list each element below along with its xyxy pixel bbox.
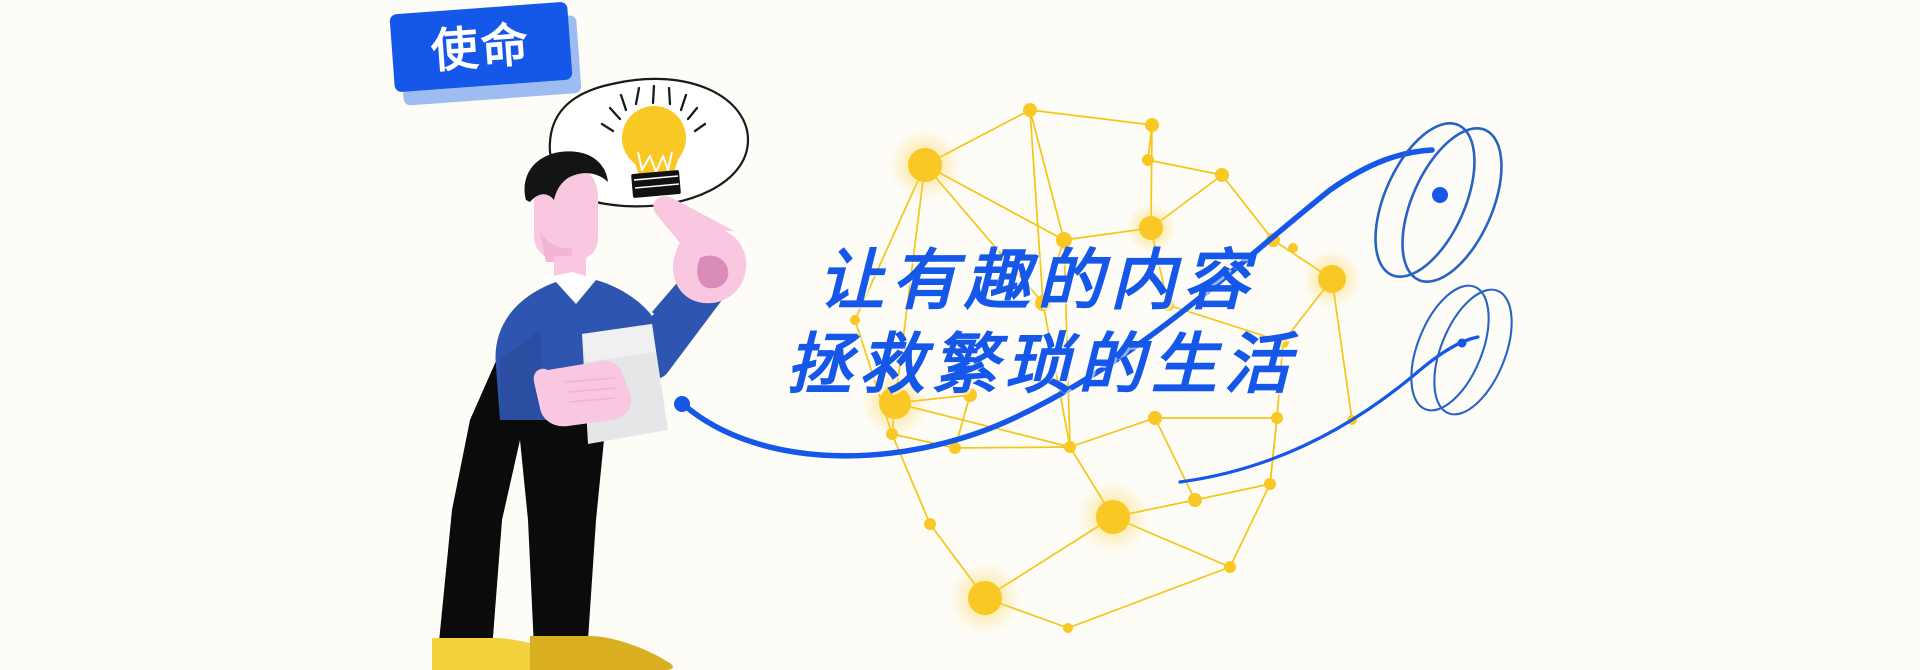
shoe-right [530, 636, 673, 670]
person-head [525, 151, 608, 286]
mission-banner: 使命 让有趣的内容 拯救繁琐的生活 [0, 0, 1920, 670]
lightbulb-base [631, 170, 681, 198]
pointing-person-illustration [0, 0, 1920, 670]
holding-hand [534, 360, 631, 426]
pointing-hand [652, 196, 746, 340]
person-shoes [432, 636, 673, 670]
